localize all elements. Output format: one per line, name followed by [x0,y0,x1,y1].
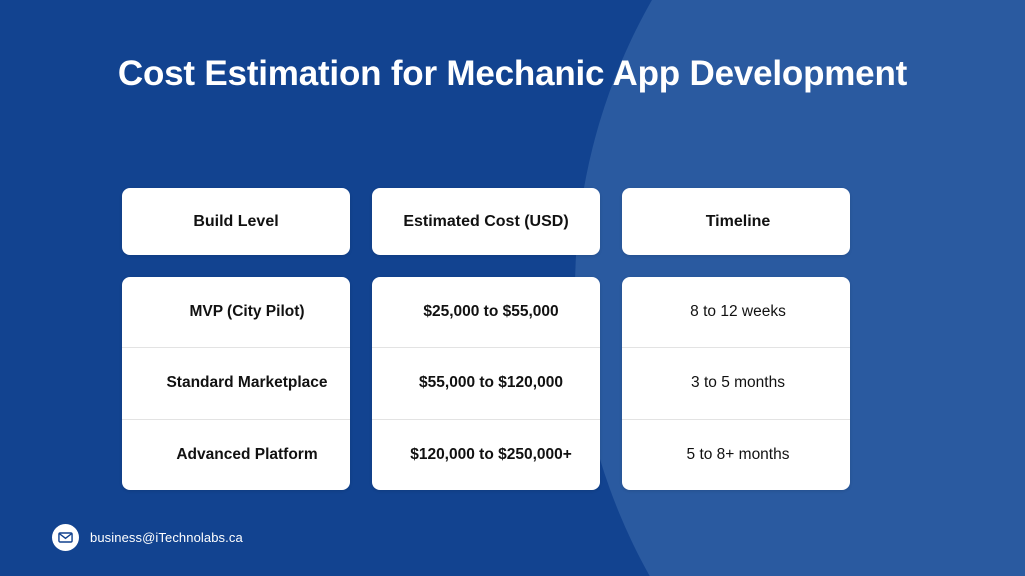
table-cell-timeline-2: 3 to 5 months [622,347,850,418]
table-cell-timeline-3: 5 to 8+ months [622,419,850,490]
table-cell-timeline-1: 8 to 12 weeks [622,277,850,347]
column-header-timeline: Timeline [622,188,850,255]
envelope-icon [52,524,79,551]
cost-estimation-table: Build Level Estimated Cost (USD) Timelin… [122,188,852,490]
table-cell-build-level-2: Standard Marketplace [122,347,350,418]
footer-contact: business@iTechnolabs.ca [52,524,243,551]
column-header-build-level: Build Level [122,188,350,255]
column-estimated-cost: $25,000 to $55,000 $55,000 to $120,000 $… [372,277,600,490]
slide-canvas: Cost Estimation for Mechanic App Develop… [0,0,1025,576]
table-cell-estimated-cost-3: $120,000 to $250,000+ [372,419,600,490]
table-body: MVP (City Pilot) Standard Marketplace Ad… [122,277,852,490]
table-cell-build-level-1: MVP (City Pilot) [122,277,350,347]
column-timeline: 8 to 12 weeks 3 to 5 months 5 to 8+ mont… [622,277,850,490]
table-header-row: Build Level Estimated Cost (USD) Timelin… [122,188,852,255]
column-build-level: MVP (City Pilot) Standard Marketplace Ad… [122,277,350,490]
column-header-estimated-cost: Estimated Cost (USD) [372,188,600,255]
table-cell-build-level-3: Advanced Platform [122,419,350,490]
page-title: Cost Estimation for Mechanic App Develop… [0,50,1025,98]
table-cell-estimated-cost-1: $25,000 to $55,000 [372,277,600,347]
table-cell-estimated-cost-2: $55,000 to $120,000 [372,347,600,418]
footer-email-text: business@iTechnolabs.ca [90,530,243,545]
